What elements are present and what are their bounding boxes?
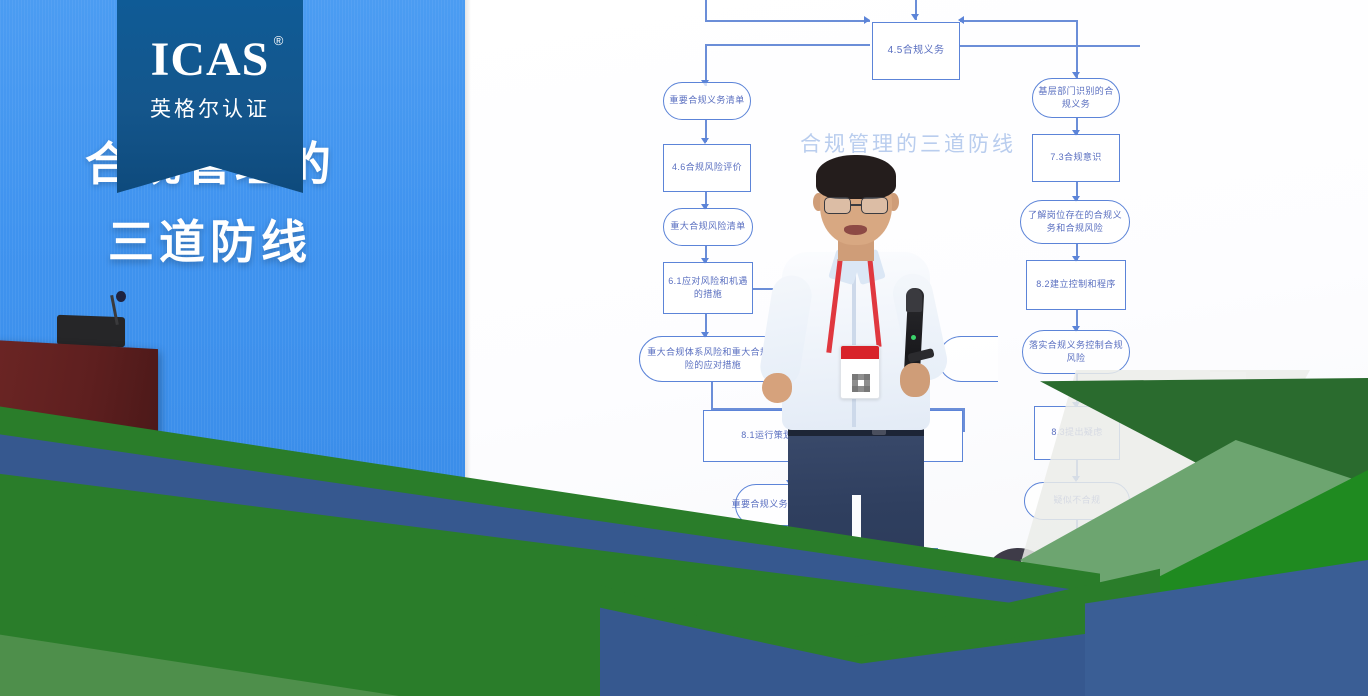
- speaker-hand-left: [762, 373, 792, 403]
- badge-header-band: [841, 346, 879, 359]
- flow-node-post-obligations-risk: 了解岗位存在的合规义务和合规风险: [1020, 200, 1130, 244]
- flow-node-risk-opportunity-measures: 6.1应对风险和机遇的措施: [663, 262, 753, 314]
- flow-arrow: [864, 16, 870, 24]
- speaker-hand-right: [900, 363, 930, 397]
- flow-node-compliance-risk-evaluation: 4.6合规风险评价: [663, 144, 751, 192]
- icas-logo-banner: ICAS ® 英格尔认证: [117, 0, 303, 193]
- flow-connector: [960, 20, 1078, 22]
- flow-connector: [705, 20, 870, 22]
- flow-connector: [705, 0, 707, 22]
- flow-node-key-obligation-list: 重要合规义务清单: [663, 82, 751, 120]
- flow-connector: [1076, 20, 1078, 78]
- flow-node-major-risk-list: 重大合规风险清单: [663, 208, 753, 246]
- flow-arrow: [911, 14, 919, 20]
- speaker-id-badge: [840, 345, 880, 399]
- icas-wordmark: ICAS ®: [151, 36, 270, 84]
- backdrop-title-line-2: 三道防线: [0, 206, 420, 272]
- registered-trademark-icon: ®: [274, 34, 285, 47]
- microphone-grill: [906, 288, 922, 312]
- speaker-mouth: [844, 225, 867, 235]
- eyeglasses-right-lens-icon: [861, 197, 888, 214]
- screenshot-stage: 合规管理的 三道防线 ICAS ® 英格尔认证 4.5合规义务 重要合规义务清单…: [0, 0, 1368, 696]
- qr-code-icon: [852, 374, 870, 392]
- flow-node-compliance-obligation: 4.5合规义务: [872, 22, 960, 80]
- speaker-hair: [816, 155, 896, 199]
- flow-node-establish-controls: 8.2建立控制和程序: [1026, 260, 1126, 310]
- podium-microphone-icon: [116, 291, 126, 302]
- microphone-led-icon: [911, 335, 916, 340]
- flow-node-compliance-awareness: 7.3合规意识: [1032, 134, 1120, 182]
- eyeglasses-left-lens-icon: [824, 197, 851, 214]
- slide-watermark-title: 合规管理的三道防线: [800, 128, 1016, 158]
- flow-connector: [705, 44, 870, 46]
- flow-connector: [960, 45, 1140, 47]
- eyeglasses-bridge-icon: [851, 204, 861, 206]
- icas-wordmark-text: ICAS: [151, 33, 270, 86]
- flow-node-implement-controls: 落实合规义务控制合规风险: [1022, 330, 1130, 374]
- flow-node-department-obligations: 基层部门识别的合规义务: [1032, 78, 1120, 118]
- flow-connector: [711, 382, 713, 410]
- icas-chinese-name: 英格尔认证: [150, 93, 270, 123]
